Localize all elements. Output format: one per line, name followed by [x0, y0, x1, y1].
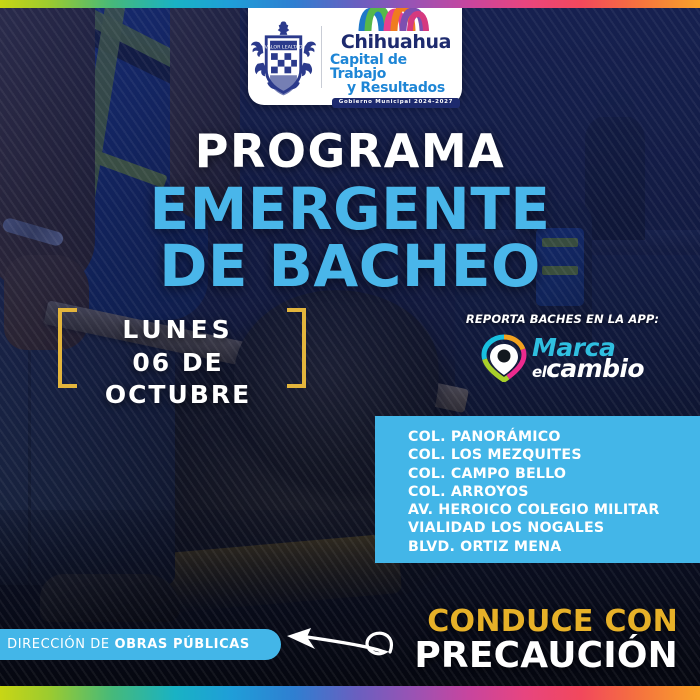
app-brand-el-cambio: elcambio — [532, 357, 644, 380]
list-item: COL. LOS MEZQUITES — [408, 446, 700, 464]
poster-canvas: VALOR LEALTAD Chihuahua Capital de Traba… — [0, 0, 700, 700]
app-brand-el: el — [532, 363, 546, 381]
rainbow-bar-bottom — [0, 686, 700, 700]
app-brand-cambio: cambio — [546, 354, 644, 383]
coat-of-arms-icon: VALOR LEALTAD — [248, 16, 319, 98]
logo-government-period: Gobierno Municipal 2024-2027 — [332, 98, 460, 108]
list-item: COL. PANORÁMICO — [408, 428, 700, 446]
chihuahua-wordmark: Chihuahua Capital de Trabajo y Resultado… — [330, 5, 462, 108]
report-app-block: REPORTA BACHES EN LA APP: Marca elcambio — [455, 312, 670, 382]
government-logo-card: VALOR LEALTAD Chihuahua Capital de Traba… — [248, 8, 462, 105]
app-kicker-text: REPORTA BACHES EN LA APP: — [455, 312, 670, 326]
list-item: COL. ARROYOS — [408, 483, 700, 501]
streets-panel: COL. PANORÁMICO COL. LOS MEZQUITES COL. … — [375, 416, 700, 563]
date-day-of-week: LUNES — [58, 314, 298, 345]
headline-line-1: PROGRAMA — [0, 128, 700, 174]
svg-text:VALOR LEALTAD: VALOR LEALTAD — [265, 44, 303, 50]
department-name: OBRAS PÚBLICAS — [114, 637, 249, 652]
marca-el-cambio-logo[interactable]: Marca elcambio — [455, 334, 670, 382]
chihuahua-arches-icon — [358, 5, 434, 31]
curly-arrow-icon — [285, 612, 395, 674]
list-item: COL. CAMPO BELLO — [408, 465, 700, 483]
department-label: DIRECCIÓN DE OBRAS PÚBLICAS — [7, 637, 250, 652]
headline-line-3: DE BACHEO — [0, 237, 700, 296]
logo-city-name: Chihuahua — [341, 33, 451, 52]
logo-tagline-1: Capital de Trabajo — [330, 53, 462, 81]
headline-line-2: EMERGENTE — [0, 180, 700, 239]
warning-line-1: CONDUCE CON — [414, 607, 678, 637]
map-pin-icon — [481, 334, 527, 382]
list-item: AV. HEROICO COLEGIO MILITAR — [408, 501, 700, 519]
warning-line-2: PRECAUCIÓN — [414, 638, 678, 674]
drive-safely-block: CONDUCE CON PRECAUCIÓN — [414, 607, 678, 674]
headline-block: PROGRAMA EMERGENTE DE BACHEO — [0, 128, 700, 296]
department-prefix: DIRECCIÓN DE — [7, 637, 114, 652]
list-item: VIALIDAD LOS NOGALES — [408, 519, 700, 537]
rainbow-bar-top — [0, 0, 700, 8]
logo-tagline-2: y Resultados — [347, 81, 445, 95]
department-pill: DIRECCIÓN DE OBRAS PÚBLICAS — [0, 629, 281, 660]
date-value: 06 DE OCTUBRE — [58, 347, 298, 410]
date-block: LUNES 06 DE OCTUBRE — [58, 308, 298, 388]
logo-divider — [321, 26, 322, 88]
list-item: BLVD. ORTIZ MENA — [408, 538, 700, 556]
